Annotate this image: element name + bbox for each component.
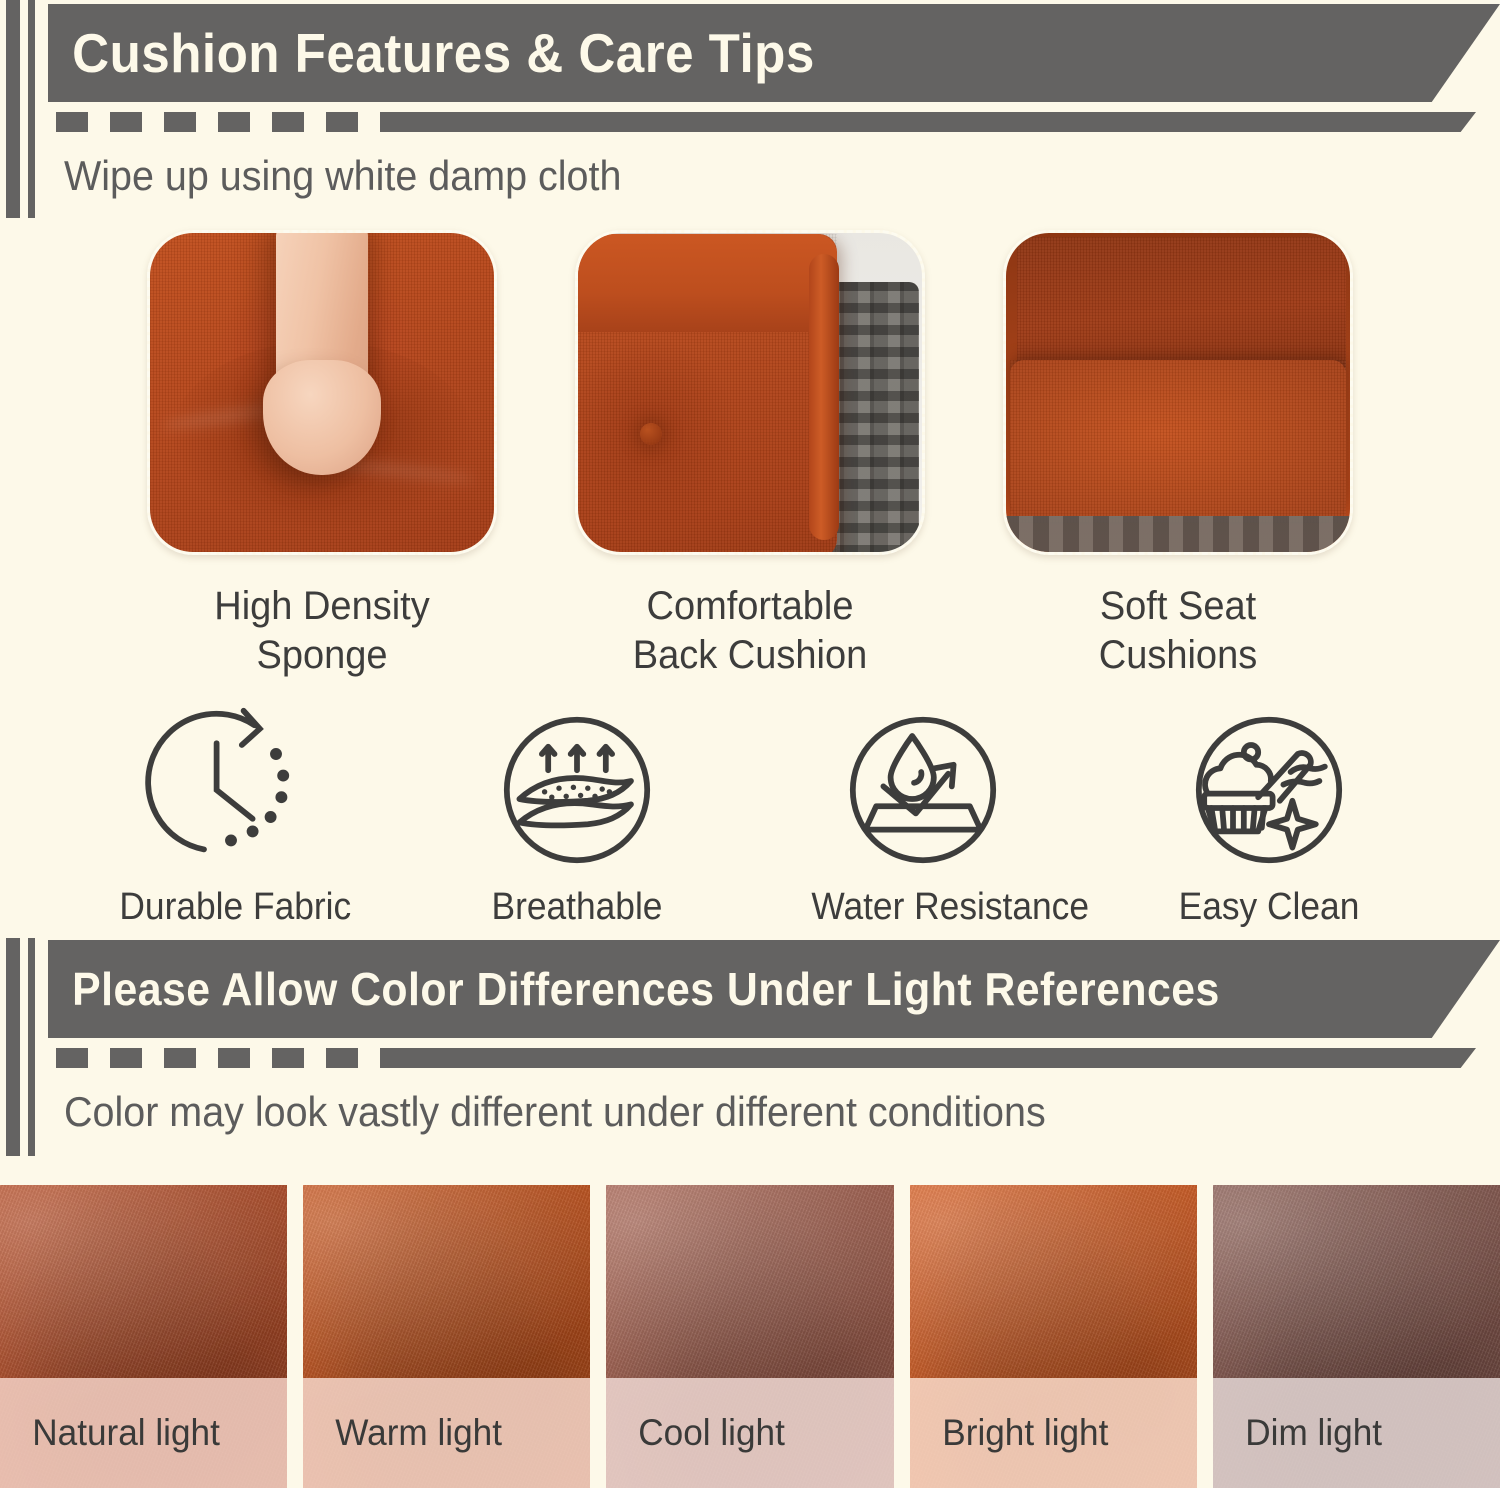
left-rail-thick-bottom	[6, 938, 20, 1156]
feature-icon-row: Durable Fabric Breathable	[0, 700, 1500, 929]
feature-photo-card	[1003, 230, 1353, 555]
left-rail-thin-bottom	[28, 938, 35, 1156]
dash-segment	[326, 1048, 358, 1068]
fabric-weave-texture	[1017, 237, 1346, 374]
caption-line-2: Cushions	[1012, 631, 1345, 680]
feature-photo-card	[575, 230, 925, 555]
caption-line-2: Sponge	[156, 631, 489, 680]
caption-line-1: Soft Seat	[1012, 582, 1345, 631]
color-swatch-cool-light: Cool light	[606, 1185, 893, 1488]
dash-solid-bar	[380, 1048, 1476, 1068]
seat-cushion-body	[1010, 360, 1346, 523]
feature-icon-easy-clean: Easy Clean	[1149, 700, 1389, 929]
breathable-fabric-icon	[487, 700, 667, 880]
swatch-label: Warm light	[303, 1378, 576, 1488]
subtitle-color-disclaimer: Color may look vastly different under di…	[64, 1088, 1046, 1136]
dash-segment	[56, 1048, 88, 1068]
icon-label: Durable Fabric	[119, 886, 342, 929]
dash-segment	[272, 1048, 304, 1068]
banner-title-features: Cushion Features & Care Tips	[48, 21, 815, 85]
swatch-label: Cool light	[606, 1378, 879, 1488]
caption-line-1: Comfortable	[584, 582, 917, 631]
cushion-piping	[809, 254, 839, 540]
caption-line-2: Back Cushion	[584, 631, 917, 680]
icon-label: Breathable	[465, 886, 688, 929]
cushion-top-panel	[575, 234, 837, 332]
fabric-weave-texture	[1010, 360, 1346, 523]
feature-photo-row	[0, 230, 1500, 570]
swatch-label: Dim light	[1213, 1378, 1486, 1488]
water-droplet-repel-icon	[833, 700, 1013, 880]
feature-icon-durable-fabric: Durable Fabric	[111, 700, 351, 929]
feature-caption-row: High Density Sponge Comfortable Back Cus…	[0, 582, 1500, 680]
sparkle-icon	[1269, 801, 1316, 848]
feature-caption: Comfortable Back Cushion	[584, 582, 917, 680]
color-swatch-warm-light: Warm light	[303, 1185, 590, 1488]
hand-pressing-cushion-photo	[147, 230, 497, 555]
section-banner-features: Cushion Features & Care Tips	[48, 4, 1500, 102]
dash-segment	[218, 1048, 250, 1068]
back-cushion-wicker-photo	[575, 230, 925, 555]
subtitle-wipe-instruction: Wipe up using white damp cloth	[64, 152, 621, 200]
left-rail-thin-top	[28, 0, 35, 218]
dash-segment	[218, 112, 250, 132]
dash-segment	[164, 112, 196, 132]
left-rail-thick-top	[6, 0, 20, 218]
swatch-label: Natural light	[0, 1378, 273, 1488]
dash-solid-bar	[380, 112, 1476, 132]
seat-back-cushion	[1017, 237, 1346, 374]
clock-arrow-icon	[141, 700, 321, 880]
dash-segment	[110, 1048, 142, 1068]
dash-segment	[326, 112, 358, 132]
section-banner-color: Please Allow Color Differences Under Lig…	[48, 940, 1500, 1038]
feature-caption: Soft Seat Cushions	[1012, 582, 1345, 680]
color-swatch-natural-light: Natural light	[0, 1185, 287, 1488]
seat-cushion-photo	[1003, 230, 1353, 555]
dash-segment	[56, 112, 88, 132]
banner-title-color: Please Allow Color Differences Under Lig…	[48, 962, 1220, 1016]
icon-label: Water Resistance	[811, 886, 1034, 929]
color-swatch-bright-light: Bright light	[910, 1185, 1197, 1488]
wicker-base	[1003, 516, 1353, 555]
swatch-label: Bright light	[910, 1378, 1183, 1488]
dash-segment	[110, 112, 142, 132]
dashed-rule-top	[56, 112, 1476, 132]
icon-label: Easy Clean	[1157, 886, 1380, 929]
feature-icon-breathable: Breathable	[457, 700, 697, 929]
color-swatch-row: Natural light Warm light Cool light Brig…	[0, 1185, 1500, 1488]
color-swatch-dim-light: Dim light	[1213, 1185, 1500, 1488]
feature-icon-water-resistance: Water Resistance	[803, 700, 1043, 929]
feature-caption: High Density Sponge	[156, 582, 489, 680]
dash-segment	[164, 1048, 196, 1068]
caption-line-1: High Density	[156, 582, 489, 631]
dash-segment	[272, 112, 304, 132]
back-cushion-body	[575, 234, 837, 555]
tufted-button	[640, 423, 662, 445]
feature-photo-card	[147, 230, 497, 555]
brush-suds-icon	[1179, 700, 1359, 880]
dashed-rule-bottom	[56, 1048, 1476, 1068]
